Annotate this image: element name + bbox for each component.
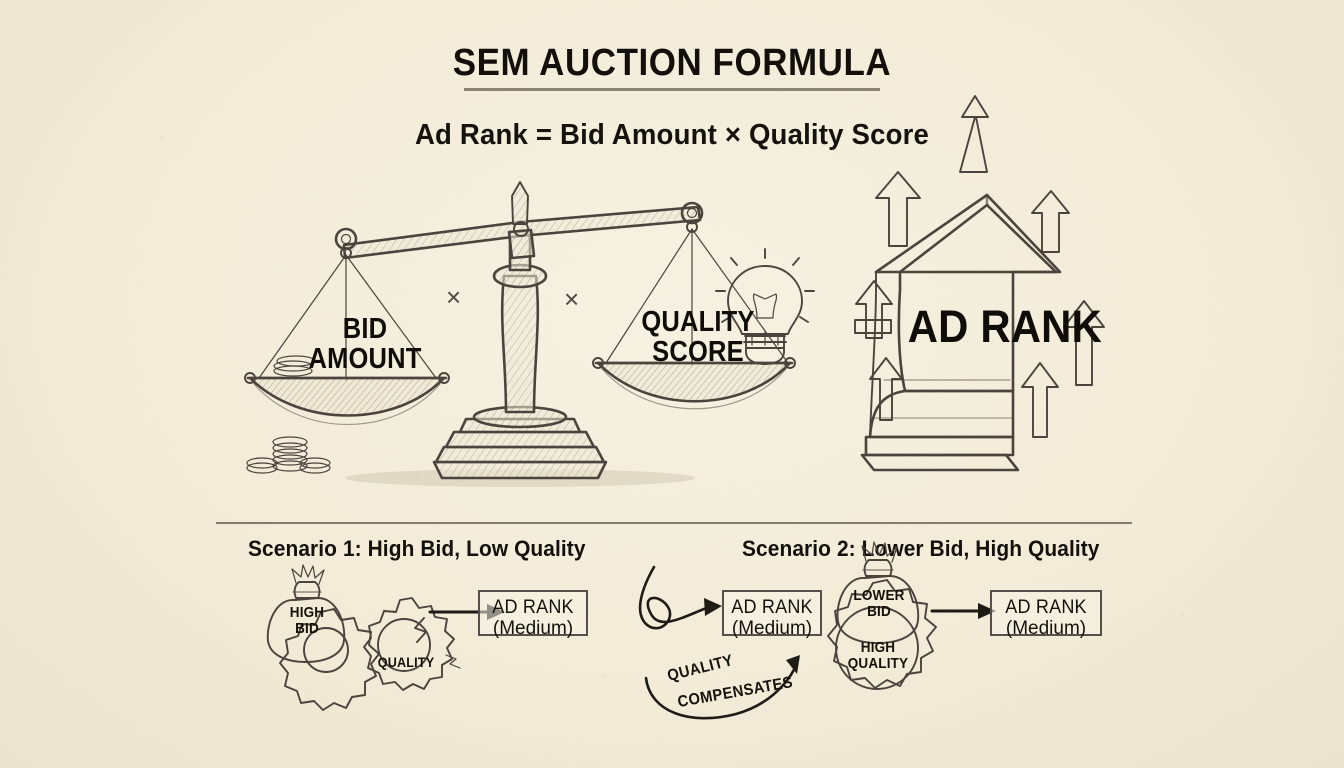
- scenario2-loop-arrow-icon: [640, 567, 722, 628]
- scenario2-bag-label: LOWER BID: [851, 588, 907, 620]
- scenario1-gear-label: QUALITY: [374, 655, 439, 670]
- scenario1-result-box: AD RANK (Medium): [478, 590, 588, 636]
- scenario2-result-box-a: AD RANK (Medium): [722, 590, 822, 636]
- scenario2-result-box-b: AD RANK (Medium): [990, 590, 1102, 636]
- scenario2-right-arrow-icon: [932, 603, 996, 619]
- scenarios-illustration: [0, 0, 1344, 768]
- scenario2-gear-label: HIGH QUALITY: [845, 640, 912, 672]
- infographic-canvas: SEM AUCTION FORMULA Ad Rank = Bid Amount…: [0, 0, 1344, 768]
- scenario1-bag-label: HIGH BID: [276, 605, 339, 637]
